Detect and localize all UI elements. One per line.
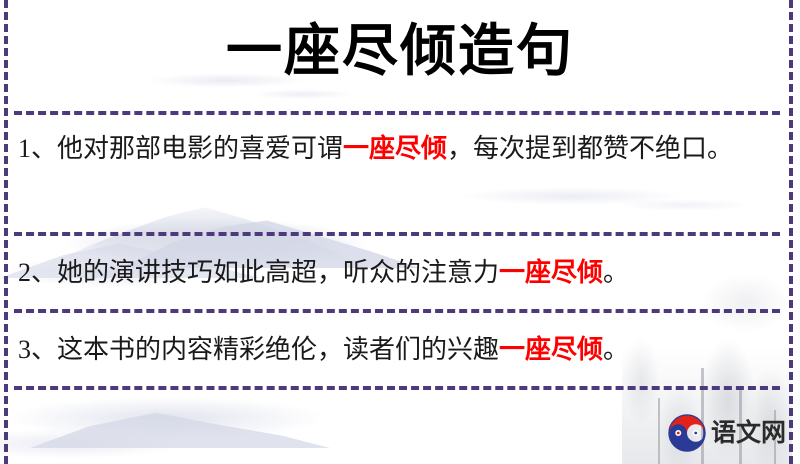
sentence-text-after: 。 [603, 335, 629, 364]
sentence-highlight: 一座尽倾 [343, 134, 447, 163]
sentence-number: 2、 [18, 258, 57, 287]
watermark-cloud-middle [420, 176, 750, 220]
divider-after-sentence-1 [14, 232, 780, 236]
sentence-item: 1、他对那部电影的喜爱可谓一座尽倾，每次提到都赞不绝口。 [18, 128, 774, 170]
page-border-left [4, 0, 8, 464]
site-logo-text: 语文网 [711, 418, 786, 448]
sentence-text-before: 她的演讲技巧如此高超，听众的注意力 [57, 258, 499, 287]
sentence-number: 1、 [18, 134, 57, 163]
sentence-item: 2、她的演讲技巧如此高超，听众的注意力一座尽倾。 [18, 252, 774, 294]
sentence-text-before: 这本书的内容精彩绝伦，读者们的兴趣 [57, 335, 499, 364]
divider-after-sentence-2 [14, 309, 780, 313]
page-title: 一座尽倾造句 [0, 16, 800, 86]
watermark-ridge-bottom [30, 404, 330, 448]
sentence-highlight: 一座尽倾 [499, 335, 603, 364]
watermark-tree-trunk [658, 398, 660, 464]
worksheet-page: 一座尽倾造句 1、他对那部电影的喜爱可谓一座尽倾，每次提到都赞不绝口。 2、她的… [0, 0, 800, 464]
watermark-mist-bottom [0, 388, 410, 464]
sentence-number: 3、 [18, 335, 57, 364]
sentence-text-before: 他对那部电影的喜爱可谓 [57, 134, 343, 163]
sentence-text-after: ，每次提到都赞不绝口。 [447, 134, 733, 163]
site-logo: 语文网 [668, 412, 792, 454]
sentence-highlight: 一座尽倾 [499, 258, 603, 287]
sentence-text-after: 。 [603, 258, 629, 287]
divider-after-sentence-3 [14, 386, 780, 390]
page-border-right [789, 0, 793, 464]
divider-under-title [14, 111, 780, 115]
yin-yang-logo-icon [668, 414, 706, 452]
sentence-item: 3、这本书的内容精彩绝伦，读者们的兴趣一座尽倾。 [18, 329, 774, 371]
